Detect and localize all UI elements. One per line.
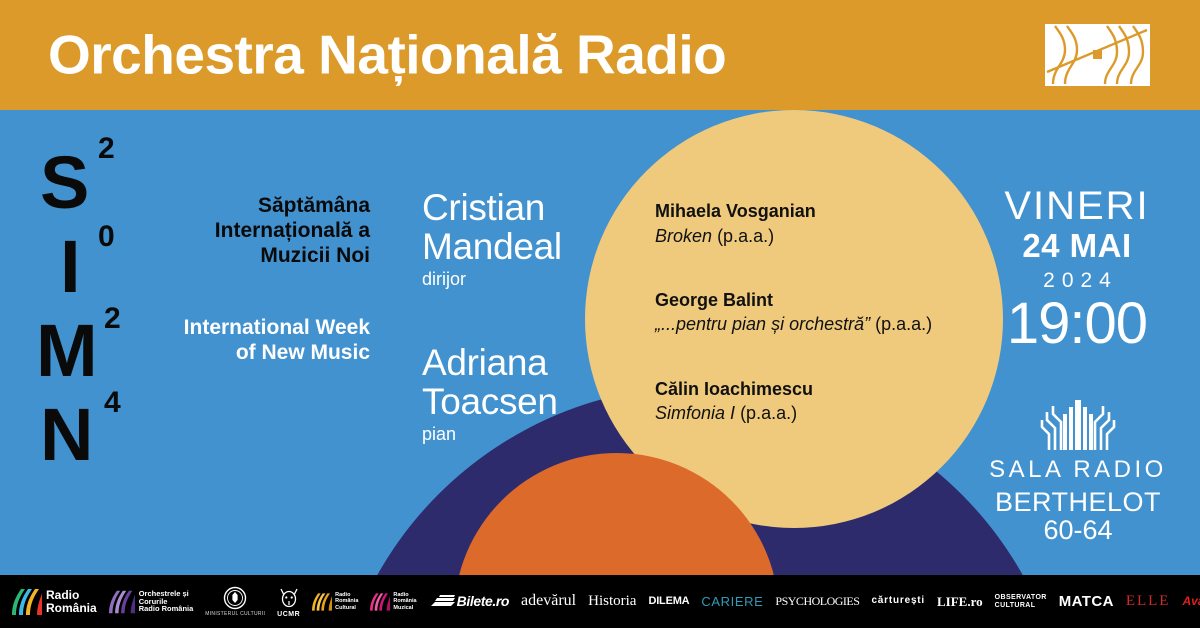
program-work: Broken (p.a.a.) [655,225,1005,248]
simn-superscript: 2 [104,304,121,334]
sponsor-label: DILEMA [648,596,689,607]
program-item: Mihaela Vosganian Broken (p.a.a.) [655,200,1005,248]
poster-header: Orchestra Națională Radio [0,0,1200,110]
sponsor-track: RadioRomânia Orchestrele șiCorurileRadio… [0,575,1200,628]
program-work-note: (p.a.a.) [875,314,932,334]
sponsor-label: CARIERE [701,595,763,608]
festival-name-block: Săptămâna Internațională a Muzicii Noi I… [160,194,370,366]
program-work-title: Broken [655,226,712,246]
sponsor-logo-psychologies[interactable]: PSYCHOLOGIES [769,575,865,628]
sponsor-label: RadioRomâniaMuzical [393,592,416,611]
simn-letter: N [40,405,93,464]
sponsor-logo-avantaje[interactable]: Avantaje [1176,575,1200,628]
radio-romania-waves-logo [1045,24,1150,86]
program-work: Simfonia I (p.a.a.) [655,402,1005,425]
simn-letter: S [40,153,89,212]
event-time: 19:00 [982,295,1172,353]
sponsor-label: adevărul [521,593,576,609]
sponsor-logo-observator-cultural[interactable]: OBSERVATORCULTURAL [989,575,1053,628]
simn-superscript: 2 [98,134,115,164]
event-date: 24 MAI [982,228,1172,265]
sala-radio-organ-logo [1039,398,1117,450]
simn-row: M 2 [36,296,171,380]
sponsor-logo-matca[interactable]: MATCA [1053,575,1120,628]
event-year: 2024 [989,268,1172,293]
program-work-title: Simfonia I [655,403,735,423]
simn-letter: I [60,237,81,296]
sponsor-logo-adevarul[interactable]: adevărul [515,575,582,628]
sponsor-logo-ucmr[interactable]: UCMR [271,575,306,628]
sponsor-logo-elle[interactable]: ELLE [1120,575,1177,628]
festival-name-en: International Week of New Music [160,316,370,366]
venue-street: BERTHELOT [980,488,1176,516]
program-work: „...pentru pian și orchestră” (p.a.a.) [655,313,1005,336]
performer-role: pian [422,424,582,446]
sponsor-logo-cariere[interactable]: CARIERE [695,575,769,628]
performer-role: dirijor [422,269,582,291]
sponsor-label: RadioRomânia [46,589,97,613]
sponsor-logo-life-ro[interactable]: LIFE.ro [931,575,989,628]
program-composer: Călin Ioachimescu [655,378,1005,401]
venue-block: SALA RADIO BERTHELOT 60-64 [980,398,1176,545]
performer-entry: Cristian Mandeal dirijor [422,188,582,291]
sponsor-label: ELLE [1126,594,1171,609]
sponsor-label: MATCA [1059,594,1114,609]
sponsor-logo-dilema[interactable]: DILEMA [642,575,695,628]
sponsor-label: Bilete.ro [457,594,509,608]
sponsor-label: Avantaje [1182,595,1200,607]
program-work-note: (p.a.a.) [740,403,797,423]
venue-name: SALA RADIO [980,458,1176,482]
sponsor-label: LIFE.ro [937,595,983,608]
event-day: VINERI [982,186,1172,226]
sponsor-logo-carturesti[interactable]: cărturești [865,575,931,628]
performer-name: Cristian Mandeal [422,188,582,266]
simn-superscript: 4 [104,388,121,418]
sponsor-label: MINISTERUL CULTURII [205,611,265,617]
sponsor-label: UCMR [277,611,300,618]
program-list: Mihaela Vosganian Broken (p.a.a.) George… [655,200,1005,426]
sponsor-label: RadioRomâniaCultural [335,592,358,611]
sponsor-label: Historia [588,594,636,609]
sponsor-logo-orchestre-coruri[interactable]: Orchestrele șiCorurileRadio România [103,575,200,628]
page-title: Orchestra Națională Radio [48,28,726,83]
sponsor-label: OBSERVATORCULTURAL [995,594,1047,608]
event-datetime: VINERI 24 MAI 2024 19:00 [982,186,1172,353]
program-composer: Mihaela Vosganian [655,200,1005,223]
sponsor-logo-ministerul-culturii[interactable]: MINISTERUL CULTURII [199,575,271,628]
sponsor-logo-historia[interactable]: Historia [582,575,642,628]
concert-poster: Orchestra Națională Radio S [0,0,1200,628]
simn-row: S 2 [36,128,171,212]
program-item: Călin Ioachimescu Simfonia I (p.a.a.) [655,378,1005,426]
simn-monogram: S 2 I 0 M 2 N 4 [36,128,171,464]
program-composer: George Balint [655,289,1005,312]
sponsor-logo-radio-romania-cultural[interactable]: RadioRomâniaCultural [306,575,364,628]
sponsor-bar: RadioRomânia Orchestrele șiCorurileRadio… [0,575,1200,628]
program-item: George Balint „...pentru pian și orchest… [655,289,1005,337]
sponsor-logo-radio-romania-muzical[interactable]: RadioRomâniaMuzical [364,575,422,628]
festival-name-ro: Săptămâna Internațională a Muzicii Noi [160,194,370,268]
simn-letter: M [36,321,98,380]
simn-superscript: 0 [98,222,115,252]
poster-body: S 2 I 0 M 2 N 4 Săptămâna Internațională… [0,110,1200,575]
venue-number: 60-64 [980,516,1176,544]
performers-block: Cristian Mandeal dirijor Adriana Toacsen… [422,188,582,446]
sponsor-label: Orchestrele șiCorurileRadio România [139,590,194,613]
sponsor-logo-bilete-ro[interactable]: Bilete.ro [423,575,515,628]
sponsor-label: PSYCHOLOGIES [775,595,859,607]
program-work-title: „...pentru pian și orchestră” [655,314,870,334]
performer-name: Adriana Toacsen [422,343,582,421]
program-work-note: (p.a.a.) [717,226,774,246]
simn-row: I 0 [36,212,171,296]
performer-entry: Adriana Toacsen pian [422,343,582,446]
sponsor-label: cărturești [871,596,925,606]
simn-row: N 4 [36,380,171,464]
sponsor-logo-radio-romania[interactable]: RadioRomânia [6,575,103,628]
